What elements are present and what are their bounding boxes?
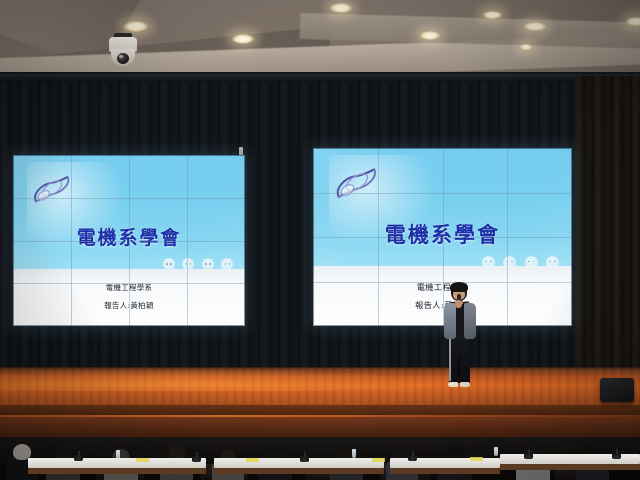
presenter-pant-stripe bbox=[449, 339, 451, 381]
desk-microphone-icon bbox=[300, 456, 309, 462]
audience-desk bbox=[28, 458, 206, 468]
slide-title: 電機系學會 bbox=[13, 223, 245, 250]
presenter-hand bbox=[455, 300, 462, 308]
recessed-downlight-icon bbox=[626, 17, 640, 26]
presenter-hair bbox=[450, 282, 468, 292]
desk-paper bbox=[136, 458, 149, 462]
recessed-downlight-icon bbox=[483, 11, 502, 19]
stage-monitor-speaker bbox=[600, 378, 634, 402]
desk-paper bbox=[246, 458, 259, 462]
desk-microphone-icon bbox=[408, 455, 417, 461]
audience-desk-front bbox=[500, 464, 640, 470]
recessed-downlight-icon bbox=[232, 34, 254, 44]
audience-desk bbox=[390, 458, 500, 468]
water-bottle bbox=[494, 447, 498, 456]
slide-left: 電機系學會 電機工程學系 報告人:黃柏穎 bbox=[13, 155, 245, 326]
desk-microphone-icon bbox=[74, 455, 83, 461]
recessed-downlight-icon bbox=[420, 31, 440, 40]
recessed-downlight-icon bbox=[520, 44, 532, 50]
presenter-shoe-left bbox=[448, 382, 458, 387]
audience-desk-front bbox=[28, 468, 206, 474]
recessed-downlight-icon bbox=[524, 22, 546, 31]
swirl-logo-icon bbox=[29, 167, 75, 211]
slide-subtitle-presenter: 報告人:黃柏穎 bbox=[13, 300, 245, 311]
face-icon bbox=[202, 258, 214, 270]
curtain-top-edge bbox=[0, 74, 640, 82]
presenter-leg-gap bbox=[458, 357, 460, 383]
presenter-shoe-right bbox=[460, 382, 470, 387]
face-icon bbox=[482, 256, 495, 269]
face-icon bbox=[503, 256, 516, 269]
face-icon bbox=[163, 258, 175, 270]
face-icon bbox=[221, 258, 233, 270]
audience-desk bbox=[214, 458, 384, 468]
desk-microphone-icon bbox=[524, 453, 533, 459]
desk-microphone-icon bbox=[192, 456, 201, 462]
stage-curtain-right bbox=[575, 76, 640, 376]
audience-desk-front bbox=[214, 468, 384, 474]
desk-microphone-icon bbox=[612, 453, 621, 459]
audience-desk-front bbox=[390, 468, 500, 474]
slide-ground bbox=[13, 269, 245, 326]
ptz-dome-camera-icon bbox=[108, 33, 138, 67]
face-icon bbox=[546, 256, 559, 269]
auditorium-scene: 電機系學會 電機工程學系 報告人:黃柏穎 bbox=[0, 0, 640, 480]
pit-wall bbox=[0, 417, 640, 439]
water-bottle bbox=[116, 450, 120, 459]
water-bottle bbox=[352, 449, 356, 458]
desk-paper bbox=[470, 457, 483, 461]
face-icon bbox=[182, 258, 194, 270]
video-wall-left[interactable]: 電機系學會 電機工程學系 報告人:黃柏穎 bbox=[13, 155, 245, 326]
slide-face-icons bbox=[440, 256, 559, 269]
swirl-logo-icon bbox=[331, 160, 383, 206]
presenter-vest-right bbox=[464, 303, 476, 339]
slide-face-icons bbox=[127, 258, 234, 270]
stage-light-pool bbox=[0, 369, 640, 391]
slide-subtitle-department: 電機工程學系 bbox=[13, 282, 245, 293]
camera-lens bbox=[117, 53, 129, 64]
presenter-vest-left bbox=[444, 303, 456, 339]
slide-title: 電機系學會 bbox=[313, 219, 572, 249]
recessed-downlight-icon bbox=[124, 21, 148, 32]
desk-paper bbox=[372, 458, 385, 462]
face-icon bbox=[525, 256, 538, 269]
presenter-on-stage bbox=[437, 283, 481, 391]
recessed-downlight-icon bbox=[330, 3, 352, 13]
